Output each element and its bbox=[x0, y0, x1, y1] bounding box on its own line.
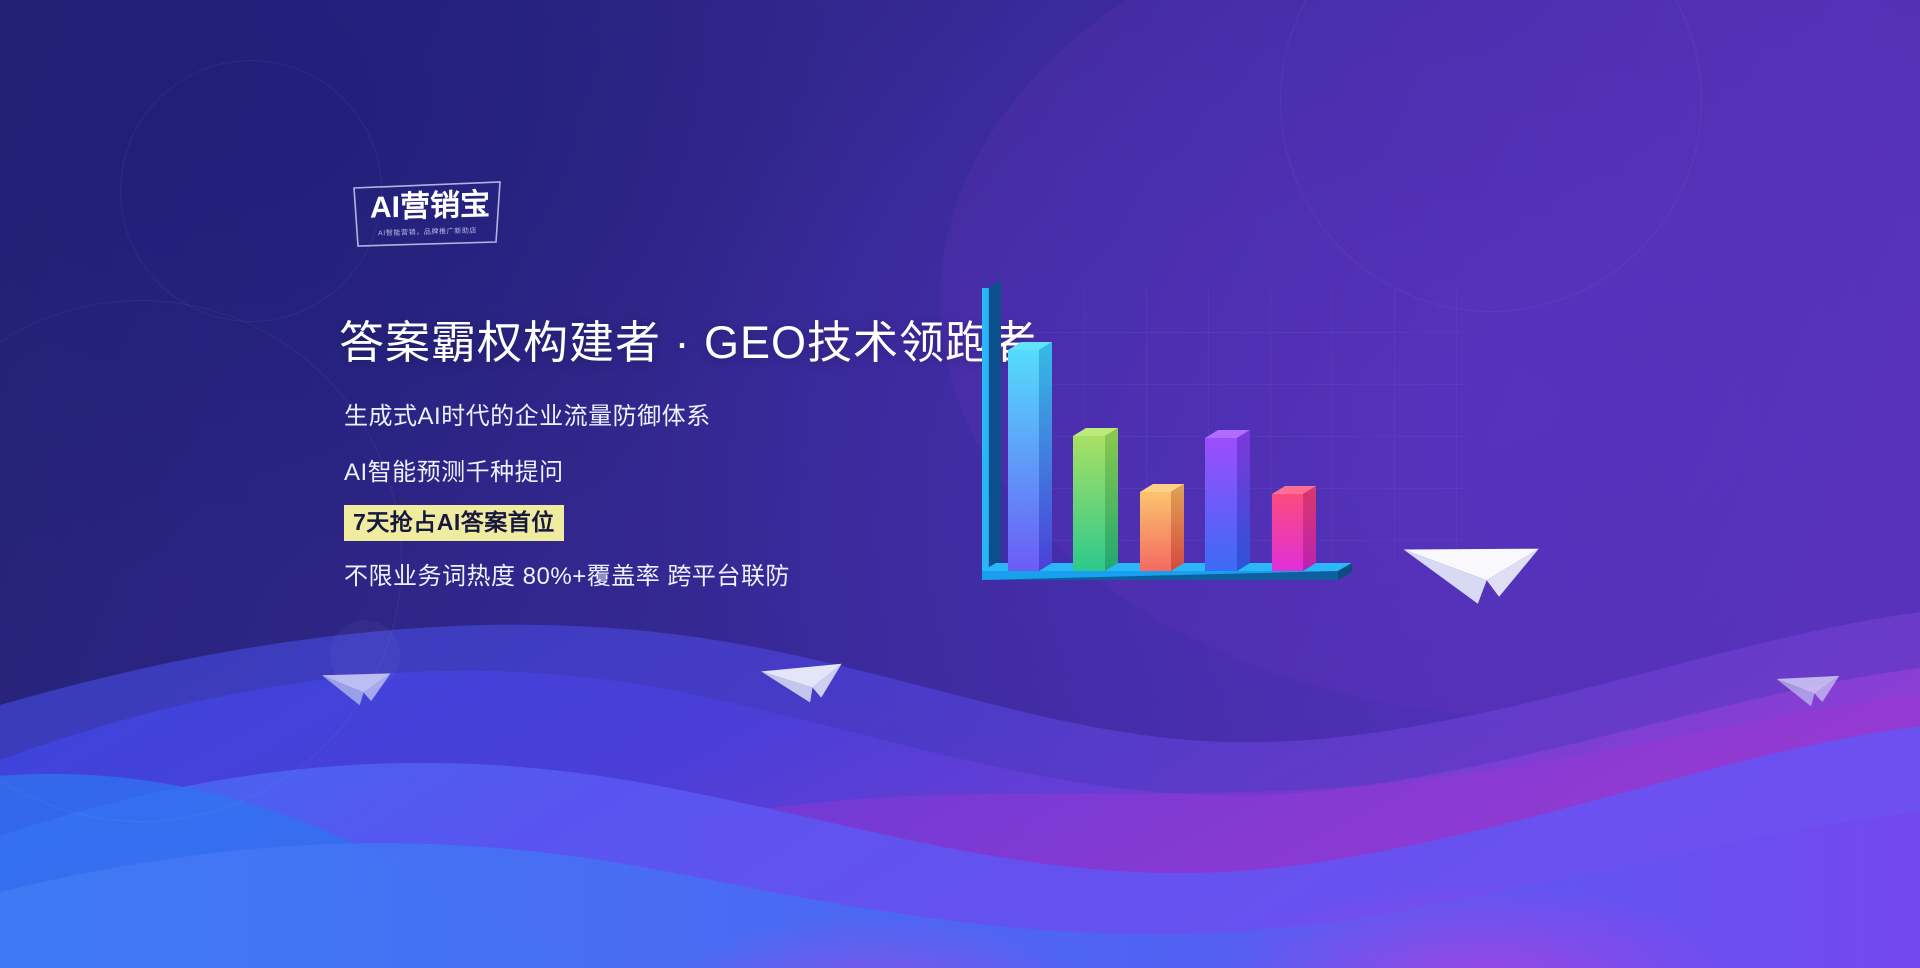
hero-banner: AI营销宝 AI智能营销，品牌推广新助店 答案霸权构建者 · GEO技术领跑者 … bbox=[0, 0, 1920, 968]
bar-chart-svg bbox=[960, 280, 1480, 680]
brand-logo[interactable]: AI营销宝 AI智能营销，品牌推广新助店 bbox=[352, 180, 502, 248]
paper-plane-icon bbox=[760, 645, 850, 711]
hero-subline-1: 生成式AI时代的企业流量防御体系 bbox=[344, 396, 711, 431]
paper-plane-icon bbox=[320, 655, 398, 713]
hero-headline: 答案霸权构建者 · GEO技术领跑者 bbox=[339, 316, 1037, 369]
hero-highlight-wrap: 7天抢占AI答案首位 bbox=[344, 505, 564, 541]
hero-subline-2: AI智能预测千种提问 bbox=[344, 452, 564, 487]
chart-bar-2 bbox=[1073, 428, 1118, 571]
hero-subline-3: 不限业务词热度 80%+覆盖率 跨平台联防 bbox=[344, 556, 790, 591]
chart-bar-4 bbox=[1205, 430, 1250, 571]
bar-chart-3d bbox=[960, 280, 1480, 680]
chart-bar-1 bbox=[1008, 342, 1052, 571]
paper-plane-icon bbox=[1775, 660, 1847, 714]
chart-y-axis bbox=[982, 280, 1001, 571]
chart-bar-5 bbox=[1272, 486, 1316, 571]
logo-text: AI营销宝 bbox=[370, 190, 490, 223]
hero-highlight-badge: 7天抢占AI答案首位 bbox=[344, 505, 564, 541]
chart-bar-3 bbox=[1140, 484, 1184, 571]
